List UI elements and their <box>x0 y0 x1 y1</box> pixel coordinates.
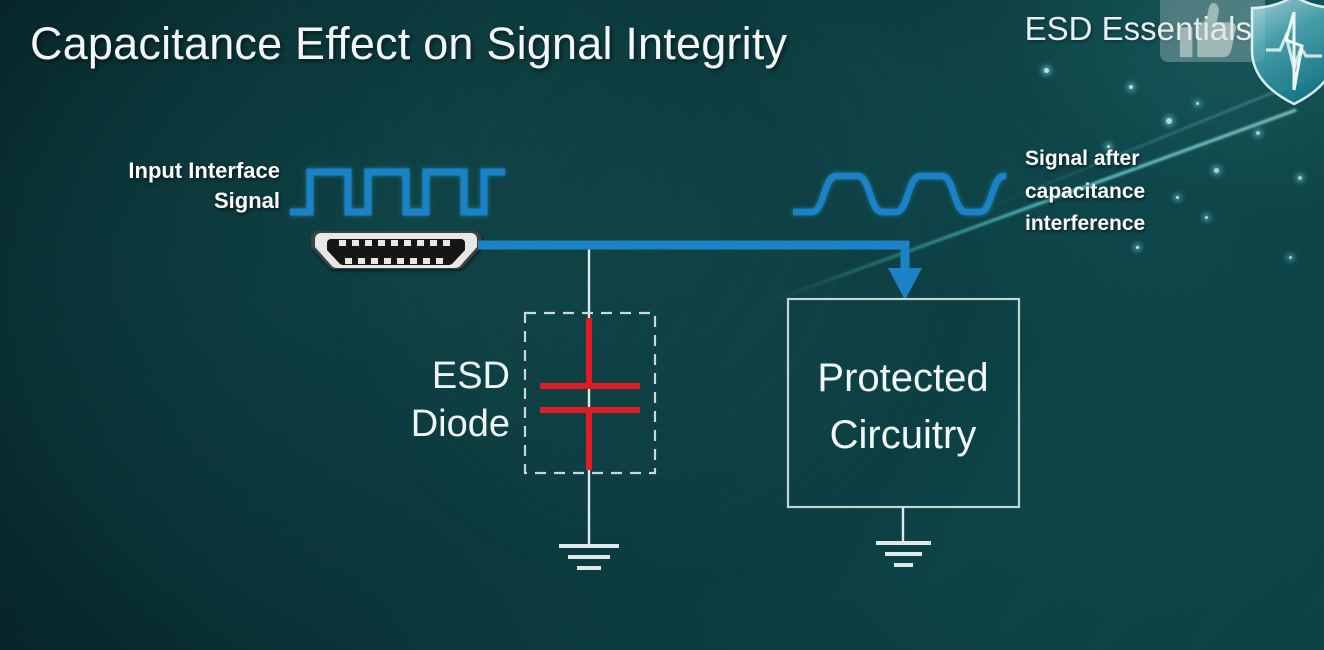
esd-label-line2: Diode <box>411 403 510 445</box>
protected-circuitry-label-line2: Circuitry <box>830 413 977 457</box>
circuit-diagram: ESD Diode Protected Circuitry <box>0 0 1324 650</box>
protected-circuitry-box <box>788 299 1019 507</box>
hdmi-connector-icon <box>311 231 481 269</box>
input-waveform <box>290 172 505 212</box>
ground-symbol-icon-right <box>876 543 931 565</box>
ground-symbol-icon-left <box>559 546 619 568</box>
signal-path-arrow-icon <box>478 245 922 300</box>
slide-canvas: Capacitance Effect on Signal Integrity E… <box>0 0 1324 650</box>
protected-circuitry-label-line1: Protected <box>817 356 988 400</box>
output-waveform <box>793 176 1006 212</box>
esd-label-line1: ESD <box>432 355 510 397</box>
